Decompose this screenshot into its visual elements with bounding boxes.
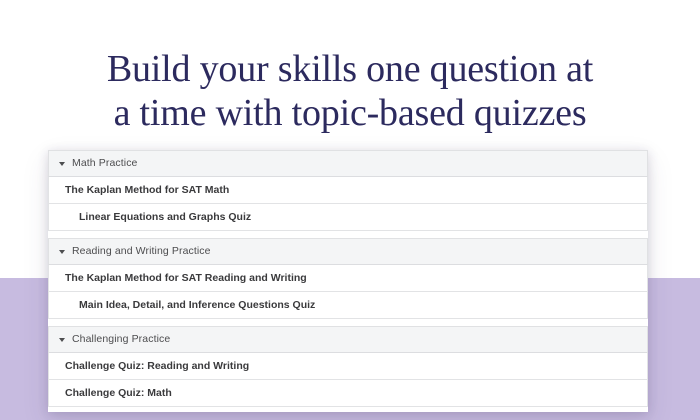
list-item[interactable]: Main Idea, Detail, and Inference Questio… — [48, 292, 648, 319]
list-item[interactable]: Linear Equations and Graphs Quiz — [48, 204, 648, 231]
list-item[interactable]: Challenge Quiz: Math — [48, 380, 648, 407]
section-title-label: Challenging Practice — [72, 326, 170, 353]
page-title: Build your skills one question at a time… — [0, 47, 700, 135]
quiz-section-reading-and-writing-practice: Reading and Writing Practice The Kaplan … — [48, 238, 648, 319]
list-item[interactable]: The Kaplan Method for SAT Reading and Wr… — [48, 265, 648, 292]
section-header-reading-and-writing-practice[interactable]: Reading and Writing Practice — [48, 238, 648, 265]
section-header-challenging-practice[interactable]: Challenging Practice — [48, 326, 648, 353]
page-title-line-2: a time with topic-based quizzes — [0, 91, 700, 135]
section-title-label: Reading and Writing Practice — [72, 238, 211, 265]
section-title-label: Math Practice — [72, 150, 138, 177]
list-item[interactable]: Challenge Quiz: Reading and Writing — [48, 353, 648, 380]
section-header-math-practice[interactable]: Math Practice — [48, 150, 648, 177]
quiz-list-card: Math Practice The Kaplan Method for SAT … — [48, 150, 648, 412]
list-item[interactable]: The Kaplan Method for SAT Math — [48, 177, 648, 204]
quiz-accordion: Math Practice The Kaplan Method for SAT … — [48, 150, 648, 407]
page-title-line-1: Build your skills one question at — [0, 47, 700, 91]
quiz-section-math-practice: Math Practice The Kaplan Method for SAT … — [48, 150, 648, 231]
caret-down-icon — [59, 250, 65, 254]
caret-down-icon — [59, 162, 65, 166]
caret-down-icon — [59, 338, 65, 342]
quiz-section-challenging-practice: Challenging Practice Challenge Quiz: Rea… — [48, 326, 648, 407]
